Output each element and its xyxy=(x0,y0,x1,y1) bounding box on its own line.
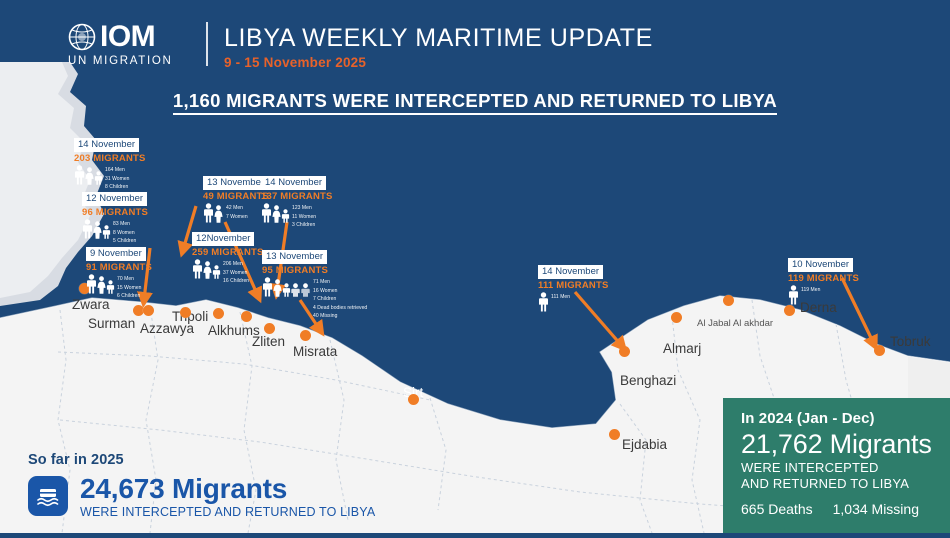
stat-2025-subtitle: WERE INTERCEPTED AND RETURNED TO LIBYA xyxy=(80,505,375,519)
callout-pictograms xyxy=(74,165,103,185)
headline-text: 1,160 MIGRANTS WERE INTERCEPTED AND RETU… xyxy=(173,90,777,115)
callout-date: 14 November xyxy=(74,138,139,152)
callout-pictograms xyxy=(86,274,115,294)
callout-breakdown-line: 37 Women xyxy=(223,270,249,278)
date-range: 9 - 15 November 2025 xyxy=(224,55,366,70)
callout-alkhums-14nov: 14 November137 MIGRANTS123 Men11 Women3 … xyxy=(261,172,333,230)
callout-date: 10 November xyxy=(788,258,853,272)
callout-total: 203 MIGRANTS xyxy=(74,153,146,164)
stat-2024-number: 21,762 Migrants xyxy=(741,428,950,460)
callout-surman-12nov: 12 November96 MIGRANTS83 Men8 Women5 Chi… xyxy=(82,188,148,246)
header-divider xyxy=(206,22,208,66)
stat-2024-title: In 2024 (Jan - Dec) xyxy=(741,410,950,427)
callout-pictograms xyxy=(538,292,549,312)
callout-total: 137 MIGRANTS xyxy=(261,191,333,202)
callout-breakdown-line: 111 Men xyxy=(551,294,570,302)
header: IOM UN MIGRATION LIBYA WEEKLY MARITIME U… xyxy=(0,0,950,82)
callout-total: 119 MIGRANTS xyxy=(788,273,859,284)
callout-breakdown-line: 3 Children xyxy=(292,222,316,230)
callout-breakdown-line: 7 Children xyxy=(313,296,367,304)
callout-pictograms xyxy=(262,277,311,297)
iom-wordmark: IOM xyxy=(100,22,155,52)
callout-zliten-13nov: 13 November95 MIGRANTS71 Men16 Women7 Ch… xyxy=(262,246,367,321)
callout-breakdown-line: 83 Men xyxy=(113,221,136,229)
pictogram-man-icon xyxy=(788,285,799,305)
callout-breakdown-line: 31 Women xyxy=(105,176,130,184)
callout-pictograms xyxy=(261,203,290,223)
callout-total: 91 MIGRANTS xyxy=(86,262,152,273)
stat-2025-panel: So far in 2025 24,673 Migrants WERE INTE… xyxy=(28,452,375,519)
stat-2024-subtitle-1: WERE INTERCEPTED xyxy=(741,460,950,476)
callout-total: 95 MIGRANTS xyxy=(262,265,367,276)
callout-total: 96 MIGRANTS xyxy=(82,207,148,218)
pictogram-child-icon xyxy=(212,265,221,279)
un-migration-tagline: UN MIGRATION xyxy=(68,55,193,67)
callout-breakdown-line: 119 Men xyxy=(801,287,820,295)
iom-logo: IOM UN MIGRATION xyxy=(68,22,193,67)
globe-icon xyxy=(68,23,96,51)
callout-breakdown-line: 15 Women xyxy=(117,285,142,293)
callout-breakdown-line: 70 Men xyxy=(117,276,142,284)
callout-azzawya-9nov: 9 November91 MIGRANTS70 Men15 Women6 Chi… xyxy=(86,243,152,301)
callout-pictograms xyxy=(788,285,799,305)
pictogram-man-icon xyxy=(538,292,549,312)
stat-2024-missing: 1,034 Missing xyxy=(833,501,919,517)
callout-breakdown-line: 42 Men xyxy=(226,205,248,213)
pictogram-child-icon xyxy=(94,171,103,185)
stat-2024-subtitle-2: AND RETURNED TO LIBYA xyxy=(741,476,950,492)
callout-date: 9 November xyxy=(86,247,146,261)
stat-2024-panel: In 2024 (Jan - Dec) 21,762 Migrants WERE… xyxy=(723,398,950,533)
callout-zwara-14nov: 14 November203 MIGRANTS164 Men31 Women8 … xyxy=(74,134,146,192)
callout-total: 111 MIGRANTS xyxy=(538,280,609,291)
pictogram-missing-icon xyxy=(300,283,311,297)
callout-breakdown-line: 206 Men xyxy=(223,261,249,269)
callout-benghazi-14nov: 14 November111 MIGRANTS111 Men xyxy=(538,261,609,312)
callout-breakdown-line: 71 Men xyxy=(313,279,367,287)
callout-date: 13 November xyxy=(262,250,327,264)
callout-date: 12 November xyxy=(82,192,147,206)
pictogram-woman-icon xyxy=(213,205,224,223)
callout-breakdown-line: 8 Women xyxy=(113,230,136,238)
pictogram-child-icon xyxy=(102,225,111,239)
headline: 1,160 MIGRANTS WERE INTERCEPTED AND RETU… xyxy=(0,90,950,112)
callout-date: 14 November xyxy=(538,265,603,279)
callout-breakdown-line: 4 Dead bodies retrieved xyxy=(313,305,367,313)
callout-breakdown-line: 40 Missing xyxy=(313,313,367,321)
callout-total: 49 MIGRANTS xyxy=(203,191,269,202)
callout-derna-10nov: 10 November119 MIGRANTS119 Men xyxy=(788,254,859,305)
callout-pictograms xyxy=(203,203,224,223)
stat-2025-title: So far in 2025 xyxy=(28,452,375,468)
callout-date: 14 November xyxy=(261,176,326,190)
callout-date: 13 November xyxy=(203,176,268,190)
callout-breakdown-line: 11 Women xyxy=(292,214,316,222)
callout-tripoli-12nov: 12November259 MIGRANTS206 Men37 Women16 … xyxy=(192,228,264,286)
pictogram-child-icon xyxy=(281,209,290,223)
callout-breakdown-line: 6 Children xyxy=(117,293,142,301)
callout-date: 12November xyxy=(192,232,254,246)
callout-breakdown-line: 16 Women xyxy=(313,288,367,296)
stat-2024-deaths: 665 Deaths xyxy=(741,501,813,517)
callout-breakdown-line: 164 Men xyxy=(105,167,130,175)
callout-tripoli-13nov: 13 November49 MIGRANTS42 Men7 Women xyxy=(203,172,269,223)
callout-total: 259 MIGRANTS xyxy=(192,247,264,258)
callout-breakdown-line: 123 Men xyxy=(292,205,316,213)
stat-2025-number: 24,673 Migrants xyxy=(80,474,375,504)
page-title: LIBYA WEEKLY MARITIME UPDATE xyxy=(224,24,653,53)
callout-pictograms xyxy=(82,219,111,239)
callout-breakdown-line: 16 Children xyxy=(223,278,249,286)
callout-breakdown-line: 7 Women xyxy=(226,214,248,222)
boat-icon xyxy=(28,476,68,516)
callout-pictograms xyxy=(192,259,221,279)
pictogram-child-icon xyxy=(106,280,115,294)
